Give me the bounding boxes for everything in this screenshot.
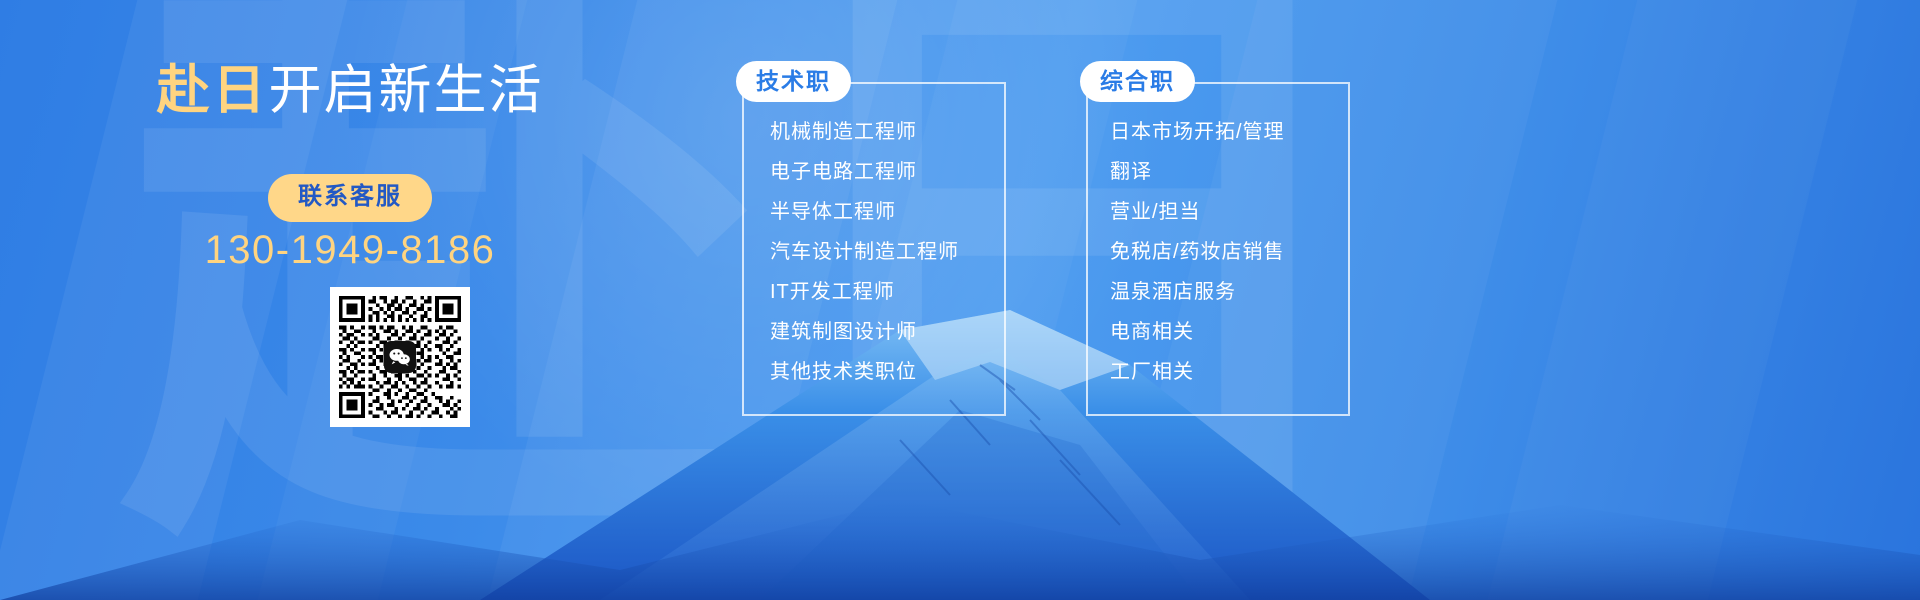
list-item[interactable]: 翻译: [1110, 152, 1285, 192]
list-item[interactable]: 营业/担当: [1110, 192, 1285, 232]
wechat-qr-code[interactable]: [330, 287, 470, 427]
headline-highlight: 赴日: [157, 61, 269, 120]
left-content-block: 赴日开启新生活 联系客服 130-1949-8186: [0, 0, 700, 600]
wechat-icon: [384, 341, 416, 373]
wechat-glyph: [389, 348, 411, 366]
background-stripe: [1473, 0, 1868, 600]
cta-container: 联系客服: [0, 174, 700, 222]
contact-phone-number[interactable]: 130-1949-8186: [0, 228, 700, 273]
job-list-general: 日本市场开拓/管理 翻译 营业/担当 免税店/药妆店销售 温泉酒店服务 电商相关…: [1110, 112, 1285, 392]
contact-support-button[interactable]: 联系客服: [268, 174, 432, 222]
list-item[interactable]: 工厂相关: [1110, 352, 1285, 392]
list-item[interactable]: 电商相关: [1110, 312, 1285, 352]
job-category-badge-general[interactable]: 综合职: [1080, 61, 1195, 102]
promo-banner: 赴日: [0, 0, 1920, 600]
list-item[interactable]: 汽车设计制造工程师: [770, 232, 959, 272]
list-item[interactable]: 电子电路工程师: [770, 152, 959, 192]
list-item[interactable]: 日本市场开拓/管理: [1110, 112, 1285, 152]
list-item[interactable]: 温泉酒店服务: [1110, 272, 1285, 312]
list-item[interactable]: 半导体工程师: [770, 192, 959, 232]
list-item[interactable]: IT开发工程师: [770, 272, 959, 312]
job-list-technical: 机械制造工程师 电子电路工程师 半导体工程师 汽车设计制造工程师 IT开发工程师…: [770, 112, 959, 392]
list-item[interactable]: 建筑制图设计师: [770, 312, 959, 352]
list-item[interactable]: 机械制造工程师: [770, 112, 959, 152]
list-item[interactable]: 免税店/药妆店销售: [1110, 232, 1285, 272]
list-item[interactable]: 其他技术类职位: [770, 352, 959, 392]
headline-rest: 开启新生活: [269, 61, 544, 120]
job-category-technical: 技术职 机械制造工程师 电子电路工程师 半导体工程师 汽车设计制造工程师 IT开…: [742, 82, 1006, 416]
job-category-general: 综合职 日本市场开拓/管理 翻译 营业/担当 免税店/药妆店销售 温泉酒店服务 …: [1086, 82, 1350, 416]
page-title: 赴日开启新生活: [0, 48, 700, 124]
job-category-badge-technical[interactable]: 技术职: [736, 61, 851, 102]
